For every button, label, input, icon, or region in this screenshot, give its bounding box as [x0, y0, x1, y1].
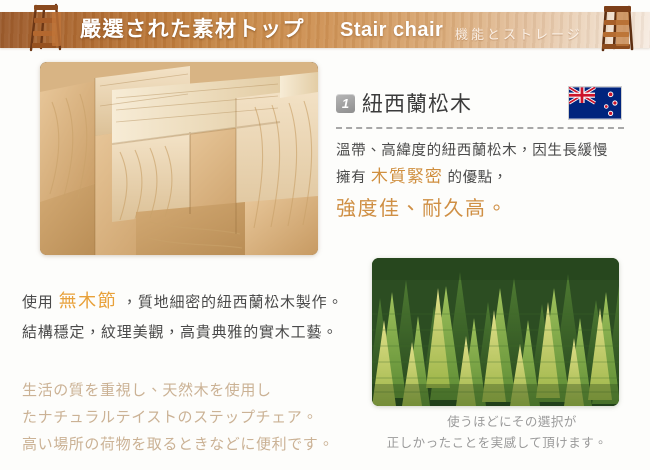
description-line-2: 擁有 木質緊密 的優點， [336, 164, 636, 191]
wood-closeup-image [40, 62, 318, 255]
wood-closeup-photo [40, 62, 318, 255]
chinese-paragraph: 使用 無木節 ，質地細密的紐西蘭松木製作。 結構穩定，紋理美觀，高貴典雅的實木工… [22, 286, 332, 348]
forest-caption-line-1: 使うほどにその選択が [372, 412, 622, 433]
chinese-line-1: 使用 無木節 ，質地細密的紐西蘭松木製作。 [22, 286, 332, 318]
material-heading: 1 紐西蘭松木 [336, 88, 636, 118]
product-feature-page: 嚴選された素材トップ Stair chair 機能とストレージ [0, 0, 650, 470]
japanese-paragraph: 生活の質を重視し、天然木を使用し たナチュラルテイストのステップチェア。 高い場… [22, 378, 352, 459]
banner-brand: Stair chair [340, 17, 443, 44]
japanese-line-2: たナチュラルテイストのステップチェア。 [22, 405, 352, 432]
material-info-block: 1 紐西蘭松木 [336, 88, 636, 225]
heading-divider [336, 127, 624, 129]
description-line-1: 溫帶、高緯度的紐西蘭松木，因生長緩慢 [336, 139, 636, 164]
header-banner: 嚴選された素材トップ Stair chair 機能とストレージ [0, 12, 650, 48]
chinese-line-2: 結構穩定，紋理美觀，高貴典雅的實木工藝。 [22, 318, 332, 348]
forest-caption-line-2: 正しかったことを実感して頂けます。 [372, 433, 622, 454]
chinese-line-1-post: ，質地細密的紐西蘭松木製作。 [122, 294, 343, 311]
chinese-highlight: 無木節 [59, 291, 118, 311]
item-number-badge: 1 [336, 94, 355, 113]
japanese-line-1: 生活の質を重視し、天然木を使用し [22, 378, 352, 405]
japanese-line-3: 高い場所の荷物を取るときなどに便利です。 [22, 432, 352, 459]
description-highlight: 木質緊密 [371, 167, 443, 186]
description-line-3: 強度佳、耐久高。 [336, 193, 636, 225]
material-description: 溫帶、高緯度的紐西蘭松木，因生長緩慢 擁有 木質緊密 的優點， 強度佳、耐久高。 [336, 139, 636, 225]
description-line-2-post: 的優點， [447, 170, 507, 186]
forest-image [372, 258, 619, 406]
chinese-line-1-pre: 使用 [22, 294, 54, 311]
banner-subtitle: 機能とストレージ [455, 24, 583, 43]
description-line-2-pre: 擁有 [336, 170, 366, 186]
forest-photo [372, 258, 619, 406]
new-zealand-flag-icon [568, 86, 622, 120]
material-title: 紐西蘭松木 [362, 88, 472, 118]
forest-caption: 使うほどにその選択が 正しかったことを実感して頂けます。 [372, 412, 622, 454]
banner-title: 嚴選された素材トップ [80, 16, 305, 44]
